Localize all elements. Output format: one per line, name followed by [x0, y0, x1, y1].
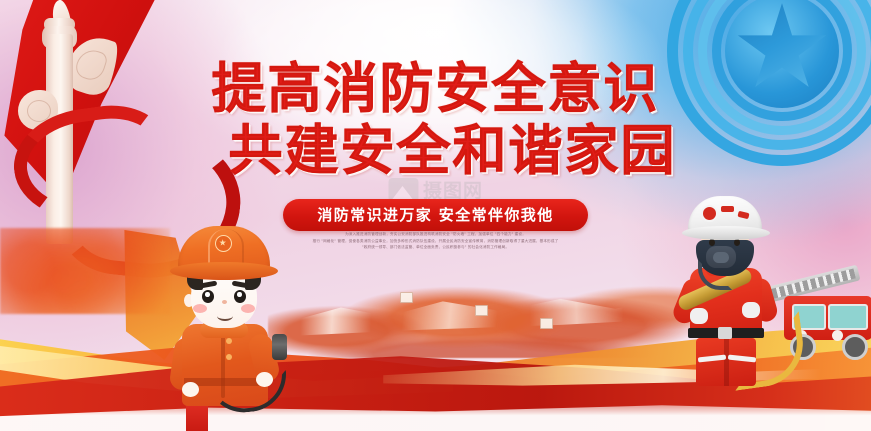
boy-jacket-button [226, 354, 232, 360]
boy-eye [202, 290, 214, 303]
wall-watchtower [400, 292, 413, 303]
adult-firefighter [668, 196, 788, 386]
man-helmet-brim [682, 226, 770, 240]
boy-mouth [217, 311, 233, 321]
man-left-glove [690, 308, 708, 324]
subtitle-banner: 消防常识进万家 安全常伴你我他 [283, 199, 587, 231]
fire-safety-poster: 提高消防安全意识 共建安全和谐家园 摄图网 消防常识进万家 安全常伴你我他 为深… [0, 0, 871, 431]
truck-headlight [832, 330, 843, 341]
cartoon-child-firefighter [160, 226, 288, 406]
helmet-emblem-icon [701, 205, 718, 222]
boy-right-hand [256, 372, 273, 387]
man-belt-buckle [718, 327, 732, 339]
hose-nozzle-icon [272, 334, 287, 360]
wall-watchtower [475, 305, 488, 316]
title-line-1: 提高消防安全意识 [0, 62, 871, 116]
boy-cheek-blush [241, 304, 255, 313]
boy-eye [234, 290, 246, 303]
body-line-1: 为深入推进消防管理创新，夯实公安消防部队推进构筑消防安全 "防火墙" 工程，加强… [246, 231, 626, 238]
body-line-3: "政府统一领导、部门依法监管、单位全面负责、公民积极参与" 的社会化消防工作格局… [246, 244, 626, 251]
left-ember-sparks [0, 228, 170, 314]
boy-nose [222, 300, 227, 304]
boy-left-hand [182, 382, 199, 397]
body-paragraph: 为深入推进消防管理创新，夯实公安消防部队推进构筑消防安全 "防火墙" 工程，加强… [246, 231, 626, 251]
helmet-star-badge-icon [215, 235, 232, 252]
man-right-glove [742, 302, 760, 318]
boy-helmet-brim [170, 262, 278, 280]
truck-wheel [842, 334, 868, 360]
body-line-2: 推行 "网格化" 管理，促使各类消防公益事业，加快多种形式消防队伍建设，开展全民… [246, 238, 626, 245]
man-eye [734, 239, 740, 246]
man-trousers [696, 338, 756, 386]
boy-jacket-button [226, 338, 232, 344]
gas-mask-icon [706, 246, 736, 268]
truck-window [828, 304, 868, 330]
poster-title: 提高消防安全意识 共建安全和谐家园 [0, 62, 871, 178]
man-eye [709, 239, 715, 246]
boy-cheek-blush [193, 304, 207, 313]
watermark-logo-icon [388, 178, 418, 202]
title-line-2: 共建安全和谐家园 [0, 124, 871, 178]
wall-watchtower [540, 318, 553, 329]
helmet-stripe [721, 206, 734, 212]
